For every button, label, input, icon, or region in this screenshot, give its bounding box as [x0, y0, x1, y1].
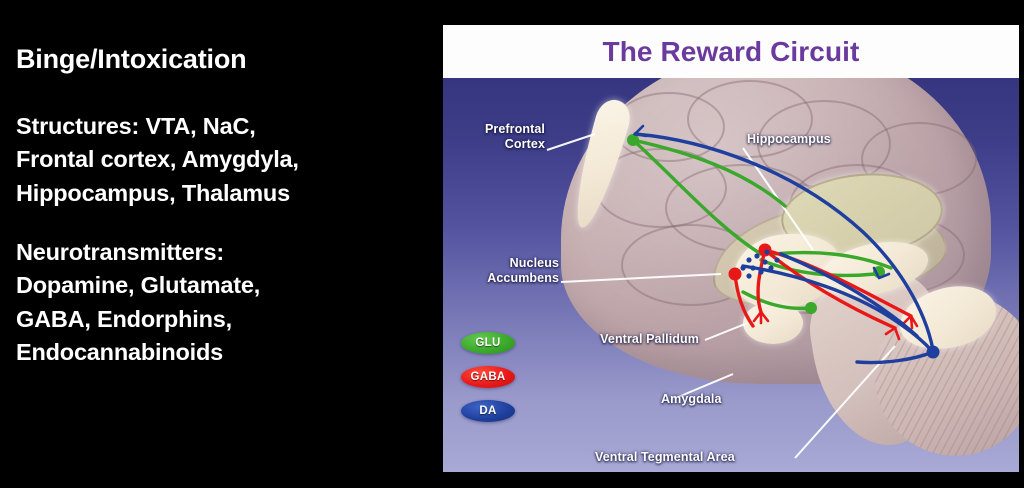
figure-title-bar: The Reward Circuit	[443, 25, 1019, 78]
figure-title: The Reward Circuit	[603, 36, 860, 68]
legend-label-gaba: GABA	[470, 371, 505, 383]
label-nucleus-accumbens: Nucleus Accumbens	[447, 256, 559, 287]
reward-circuit-figure: The Reward Circuit	[443, 25, 1019, 472]
label-ventral-tegmental-area: Ventral Tegmental Area	[595, 450, 815, 465]
label-ventral-pallidum: Ventral Pallidum	[547, 332, 699, 347]
label-prefrontal-cortex: Prefrontal Cortex	[449, 122, 545, 153]
legend-pill-gaba: GABA	[461, 366, 515, 388]
legend-label-glu: GLU	[475, 337, 500, 349]
structures-block: Structures: VTA, NaC, Frontal cortex, Am…	[16, 110, 426, 210]
slide-root: Binge/Intoxication Structures: VTA, NaC,…	[0, 0, 1024, 488]
neurotransmitter-legend: GLU GABA DA	[461, 332, 515, 422]
page-title: Binge/Intoxication	[16, 44, 426, 76]
text-panel: Binge/Intoxication Structures: VTA, NaC,…	[16, 44, 426, 369]
ventral-pallidum-region	[743, 302, 803, 344]
neurotransmitters-block: Neurotransmitters: Dopamine, Glutamate, …	[16, 236, 426, 369]
label-amygdala: Amygdala	[661, 392, 781, 407]
label-hippocampus: Hippocampus	[747, 132, 887, 147]
legend-pill-da: DA	[461, 400, 515, 422]
legend-pill-glu: GLU	[461, 332, 515, 354]
legend-label-da: DA	[479, 405, 496, 417]
brain-illustration: Prefrontal Cortex Nucleus Accumbens Vent…	[443, 78, 1019, 472]
